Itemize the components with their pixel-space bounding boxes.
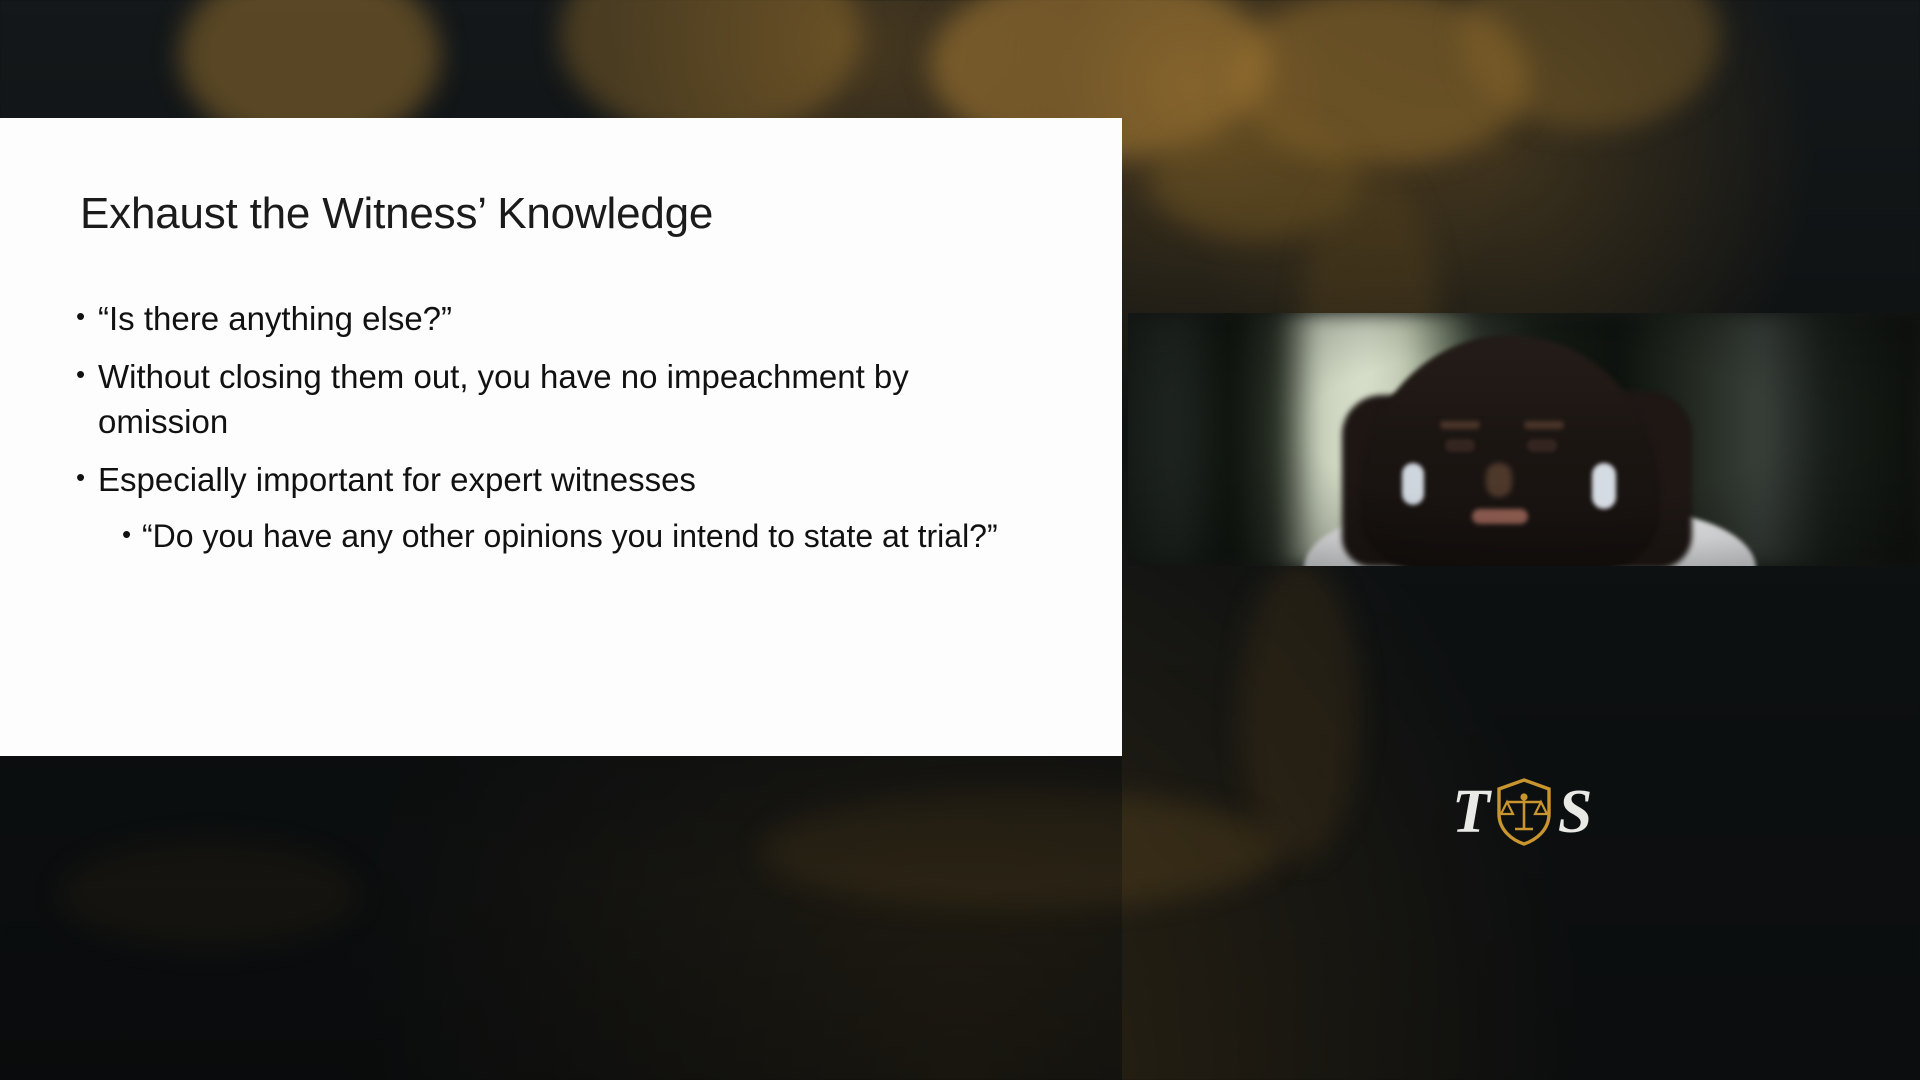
- page-title: Exhaust the Witness’ Knowledge: [80, 190, 713, 238]
- logo-letter-left: T: [1452, 781, 1490, 843]
- list-item-nested: • “Do you have any other opinions you in…: [122, 514, 1036, 558]
- presenter-video-tile[interactable]: [1128, 313, 1920, 566]
- slide-bullet-list: • “Is there anything else?” • Without cl…: [76, 296, 1036, 568]
- brand-logo: T S: [1452, 768, 1600, 856]
- list-item: • Especially important for expert witnes…: [76, 457, 1036, 503]
- presentation-recording-frame: Exhaust the Witness’ Knowledge • “Is the…: [0, 0, 1920, 1080]
- bullet-marker-icon: •: [76, 296, 98, 336]
- bullet-marker-icon: •: [76, 354, 98, 394]
- list-item-label: Without closing them out, you have no im…: [98, 354, 1036, 445]
- video-vignette: [1128, 313, 1920, 566]
- list-item: • “Is there anything else?”: [76, 296, 1036, 342]
- list-item: • Without closing them out, you have no …: [76, 354, 1036, 445]
- list-item-label: “Do you have any other opinions you inte…: [142, 514, 1036, 558]
- list-item-label: Especially important for expert witnesse…: [98, 457, 1036, 503]
- bullet-marker-icon: •: [76, 457, 98, 497]
- logo-letter-right: S: [1558, 781, 1592, 843]
- bullet-marker-icon: •: [122, 514, 142, 554]
- scales-of-justice-shield-icon: [1496, 778, 1552, 846]
- slide-panel: Exhaust the Witness’ Knowledge • “Is the…: [0, 118, 1122, 756]
- list-item-label: “Is there anything else?”: [98, 296, 1036, 342]
